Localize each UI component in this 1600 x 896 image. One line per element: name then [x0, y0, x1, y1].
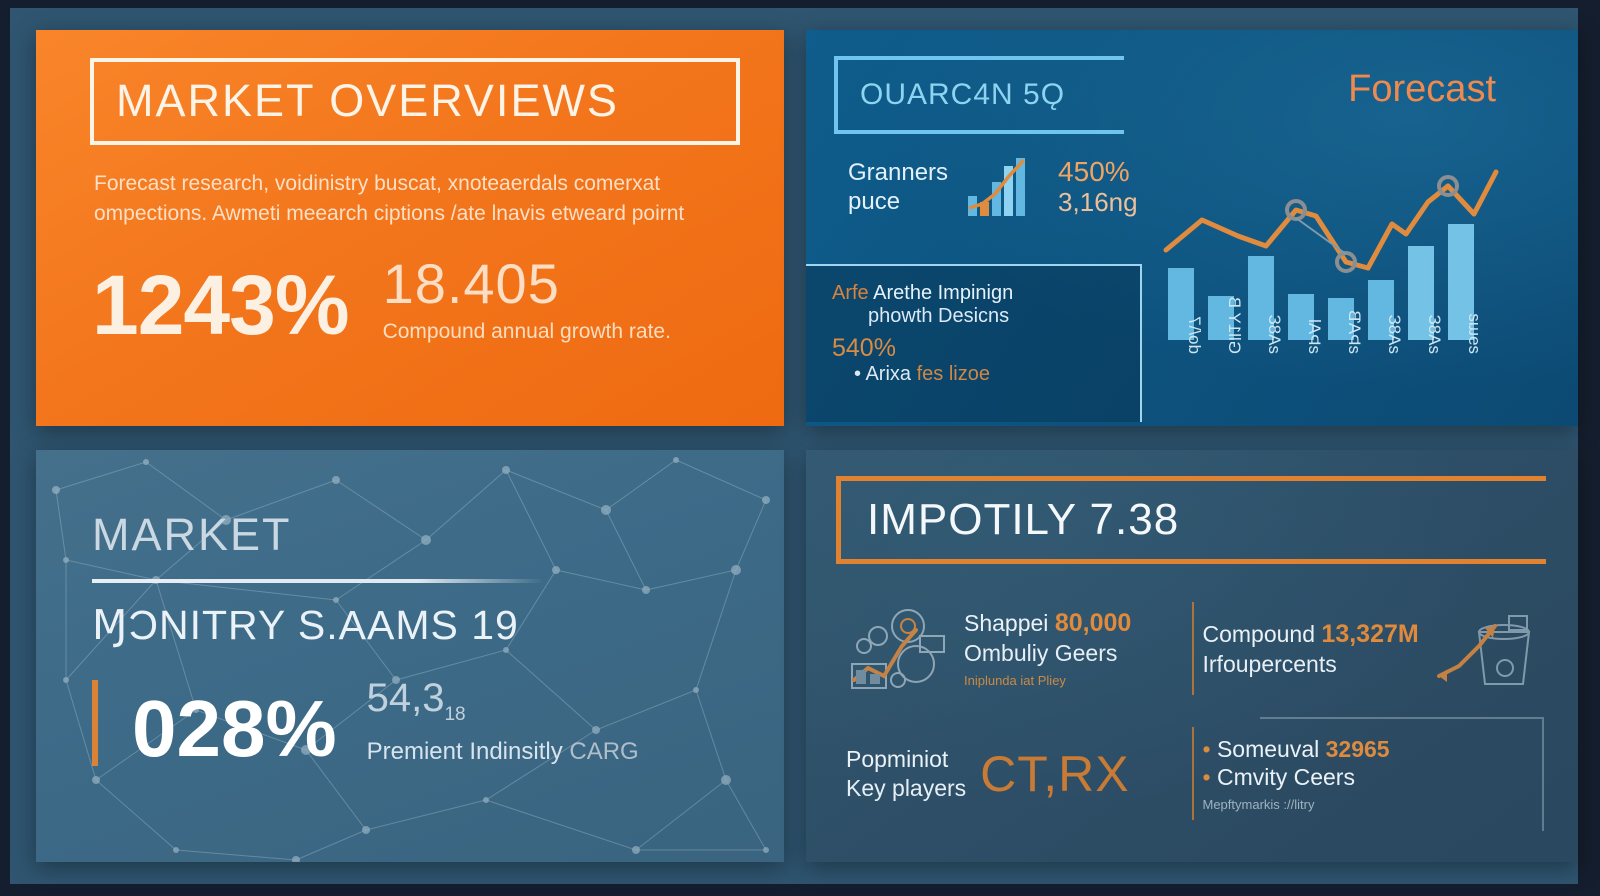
panel-impotily: IMPOTILY 7.38 — [806, 450, 1578, 862]
stat-line-1: Compound 13,327M — [1203, 619, 1419, 650]
forecast-label: Forecast — [1348, 68, 1496, 111]
impotily-title: IMPOTILY 7.38 — [867, 495, 1179, 545]
page-title: MARKET OVERVIEWS — [116, 78, 714, 123]
bullet-item-1-text: Someuval — [1217, 736, 1319, 762]
market-industry-title: MARKET — [92, 512, 748, 557]
market-overview-stats: 1243% 18.405 Compound annual growth rate… — [92, 256, 750, 344]
stat-caption: Iniplunda iat Pliey — [964, 673, 1131, 689]
quarterly-subpanel: Arfe Arethe Impinign phowth Desicns 540%… — [806, 264, 1142, 422]
stat-line-2: Ombuliy Geers — [964, 639, 1131, 667]
bar-label: ƨA8Ɛ — [1425, 314, 1444, 354]
secondary-value-sub: 18 — [444, 704, 465, 725]
market-overview-secondary-value: 18.405 — [383, 256, 671, 312]
stat-cell-shappei: Shappei 80,000 Ombuliy Geers Iniplunda i… — [836, 586, 1192, 711]
stat-cell-compound: Compound 13,327M Irfoupercents — [1193, 586, 1549, 711]
subpanel-bullet: • — [854, 363, 861, 385]
quarterly-stat-label: Granners puce — [848, 158, 948, 217]
bullet-item-2-text: Cmvity Ceers — [1217, 764, 1355, 790]
subpanel-line-4-accent: fes lizoe — [917, 363, 990, 385]
stat-line-1-text: Compound — [1203, 621, 1316, 647]
market-industry-caption: Premient Indinsitly CARG — [367, 738, 639, 766]
subpanel-line-1-accent: Arfe — [832, 282, 869, 304]
quarterly-title: OUARC4N 5Ǫ — [860, 78, 1065, 112]
market-overview-secondary: 18.405 Compound annual growth rate. — [383, 256, 671, 344]
market-overview-body: Forecast research, voidinistry buscat, x… — [94, 169, 750, 230]
market-overview-title-frame: MARKET OVERVIEWS — [90, 58, 740, 145]
title-divider — [92, 579, 544, 583]
bar-label: ƨÞAƁ — [1345, 310, 1364, 354]
stat-line-2: Key players — [846, 774, 966, 802]
bullet-dot-icon: • — [1203, 736, 1211, 762]
bar-label: ƨɘɯƨ — [1465, 313, 1484, 354]
impotily-title-frame: IMPOTILY 7.38 — [836, 476, 1546, 564]
stat-caption: Mepftymarkis ://litry — [1203, 797, 1390, 813]
market-industry-stats: 028% 54,318 Premient Indinsitly CARG — [92, 678, 748, 766]
stat-line-1-value: 13,327M — [1321, 620, 1418, 648]
stat-cell-key-players: Popminiot Key players CT,RX — [836, 711, 1192, 836]
market-industry-secondary: 54,318 Premient Indinsitly CARG — [367, 678, 639, 766]
market-industry-subtitle: ⱮƆNITRY S.AAMS 19 — [92, 605, 748, 646]
bar-label: do/\7 — [1185, 316, 1204, 354]
accent-bar — [92, 680, 98, 766]
stat-cell-text: • Someuval 32965 • Cmvity Ceers Mepftyma… — [1203, 735, 1390, 813]
gears-chart-icon — [846, 606, 950, 692]
subpanel-line-4-text: Arixa — [865, 363, 911, 385]
bullet-item-1: • Someuval 32965 — [1203, 735, 1390, 763]
infographic-canvas: MARKET OVERVIEWS Forecast research, void… — [0, 0, 1600, 896]
subpanel-line-3: 540% — [832, 334, 1126, 363]
caption-accent: CARG — [569, 738, 638, 765]
market-industry-secondary-value: 54,318 — [367, 678, 639, 724]
market-industry-big-value: 028% — [132, 692, 337, 766]
quarterly-stat-label-line1: Granners — [848, 158, 948, 187]
stat-line-1-value: 80,000 — [1055, 609, 1131, 637]
bar-label: ƨÞAƖ — [1305, 319, 1324, 354]
stat-cell-text: Popminiot Key players — [846, 745, 966, 801]
impotily-stat-grid: Shappei 80,000 Ombuliy Geers Iniplunda i… — [836, 586, 1548, 836]
market-overview-secondary-caption: Compound annual growth rate. — [383, 320, 671, 344]
bullet-item-1-value: 32965 — [1326, 736, 1390, 762]
quarterly-stat-value-a: 450% — [1058, 157, 1138, 188]
stat-line-1: Popminiot — [846, 745, 966, 773]
ctrx-logo-icon: CT,RX — [980, 745, 1129, 803]
quarterly-header: OUARC4N 5Ǫ Forecast — [834, 56, 1550, 134]
subpanel-line-4: • Arixa fes lizoe — [854, 363, 1126, 386]
bucket-growth-icon — [1433, 606, 1537, 692]
bullet-dot-icon: • — [1203, 764, 1211, 790]
bar-label: ƨA8Ɛ — [1385, 314, 1404, 354]
stat-caption-text: Iniplunda iat — [964, 673, 1034, 688]
quarterly-bar-chart: do/\7 Gll1Y B ƨA8Ɛ ƨÞAƖ ƨÞAƁ ƨA8Ɛ ƨA8Ɛ ƨ… — [1156, 158, 1552, 422]
mini-bar-chart-icon — [966, 156, 1040, 218]
quarterly-title-frame: OUARC4N 5Ǫ — [834, 56, 1124, 134]
bar-label: ƨA8Ɛ — [1265, 314, 1284, 354]
quarterly-stat-value-b: 3,16ng — [1058, 188, 1138, 217]
bar-label: Gll1Y B — [1225, 297, 1244, 354]
panel-quarterly-forecast: OUARC4N 5Ǫ Forecast Granners puce — [806, 30, 1578, 426]
subpanel-line-1-text: Arethe Impinign — [873, 282, 1013, 304]
stat-cell-text: Compound 13,327M Irfoupercents — [1203, 619, 1419, 678]
stat-caption-accent: Pliey — [1038, 673, 1066, 688]
stat-cell-text: Shappei 80,000 Ombuliy Geers Iniplunda i… — [964, 608, 1131, 688]
market-overview-big-value: 1243% — [92, 268, 349, 344]
caption-text: Premient Indinsitly — [367, 738, 563, 765]
panel-market-industry: MARKET ⱮƆNITRY S.AAMS 19 028% 54,318 Pre… — [36, 450, 784, 862]
panel-market-overview: MARKET OVERVIEWS Forecast research, void… — [36, 30, 784, 426]
bullet-item-2: • Cmvity Ceers — [1203, 763, 1390, 791]
stat-line-1: Shappei 80,000 — [964, 608, 1131, 639]
stat-line-2: Irfoupercents — [1203, 650, 1419, 678]
quarterly-stat-values: 450% 3,16ng — [1058, 157, 1138, 216]
subpanel-line-1: Arfe Arethe Impinign — [832, 282, 1126, 305]
trend-line — [1166, 172, 1496, 268]
quarterly-stat-label-line2: puce — [848, 187, 948, 216]
stat-cell-someuval: • Someuval 32965 • Cmvity Ceers Mepftyma… — [1193, 711, 1549, 836]
secondary-value-main: 54,3 — [367, 676, 445, 720]
subpanel-line-2: phowth Desicns — [868, 305, 1126, 328]
stat-line-1-text: Shappei — [964, 610, 1048, 636]
